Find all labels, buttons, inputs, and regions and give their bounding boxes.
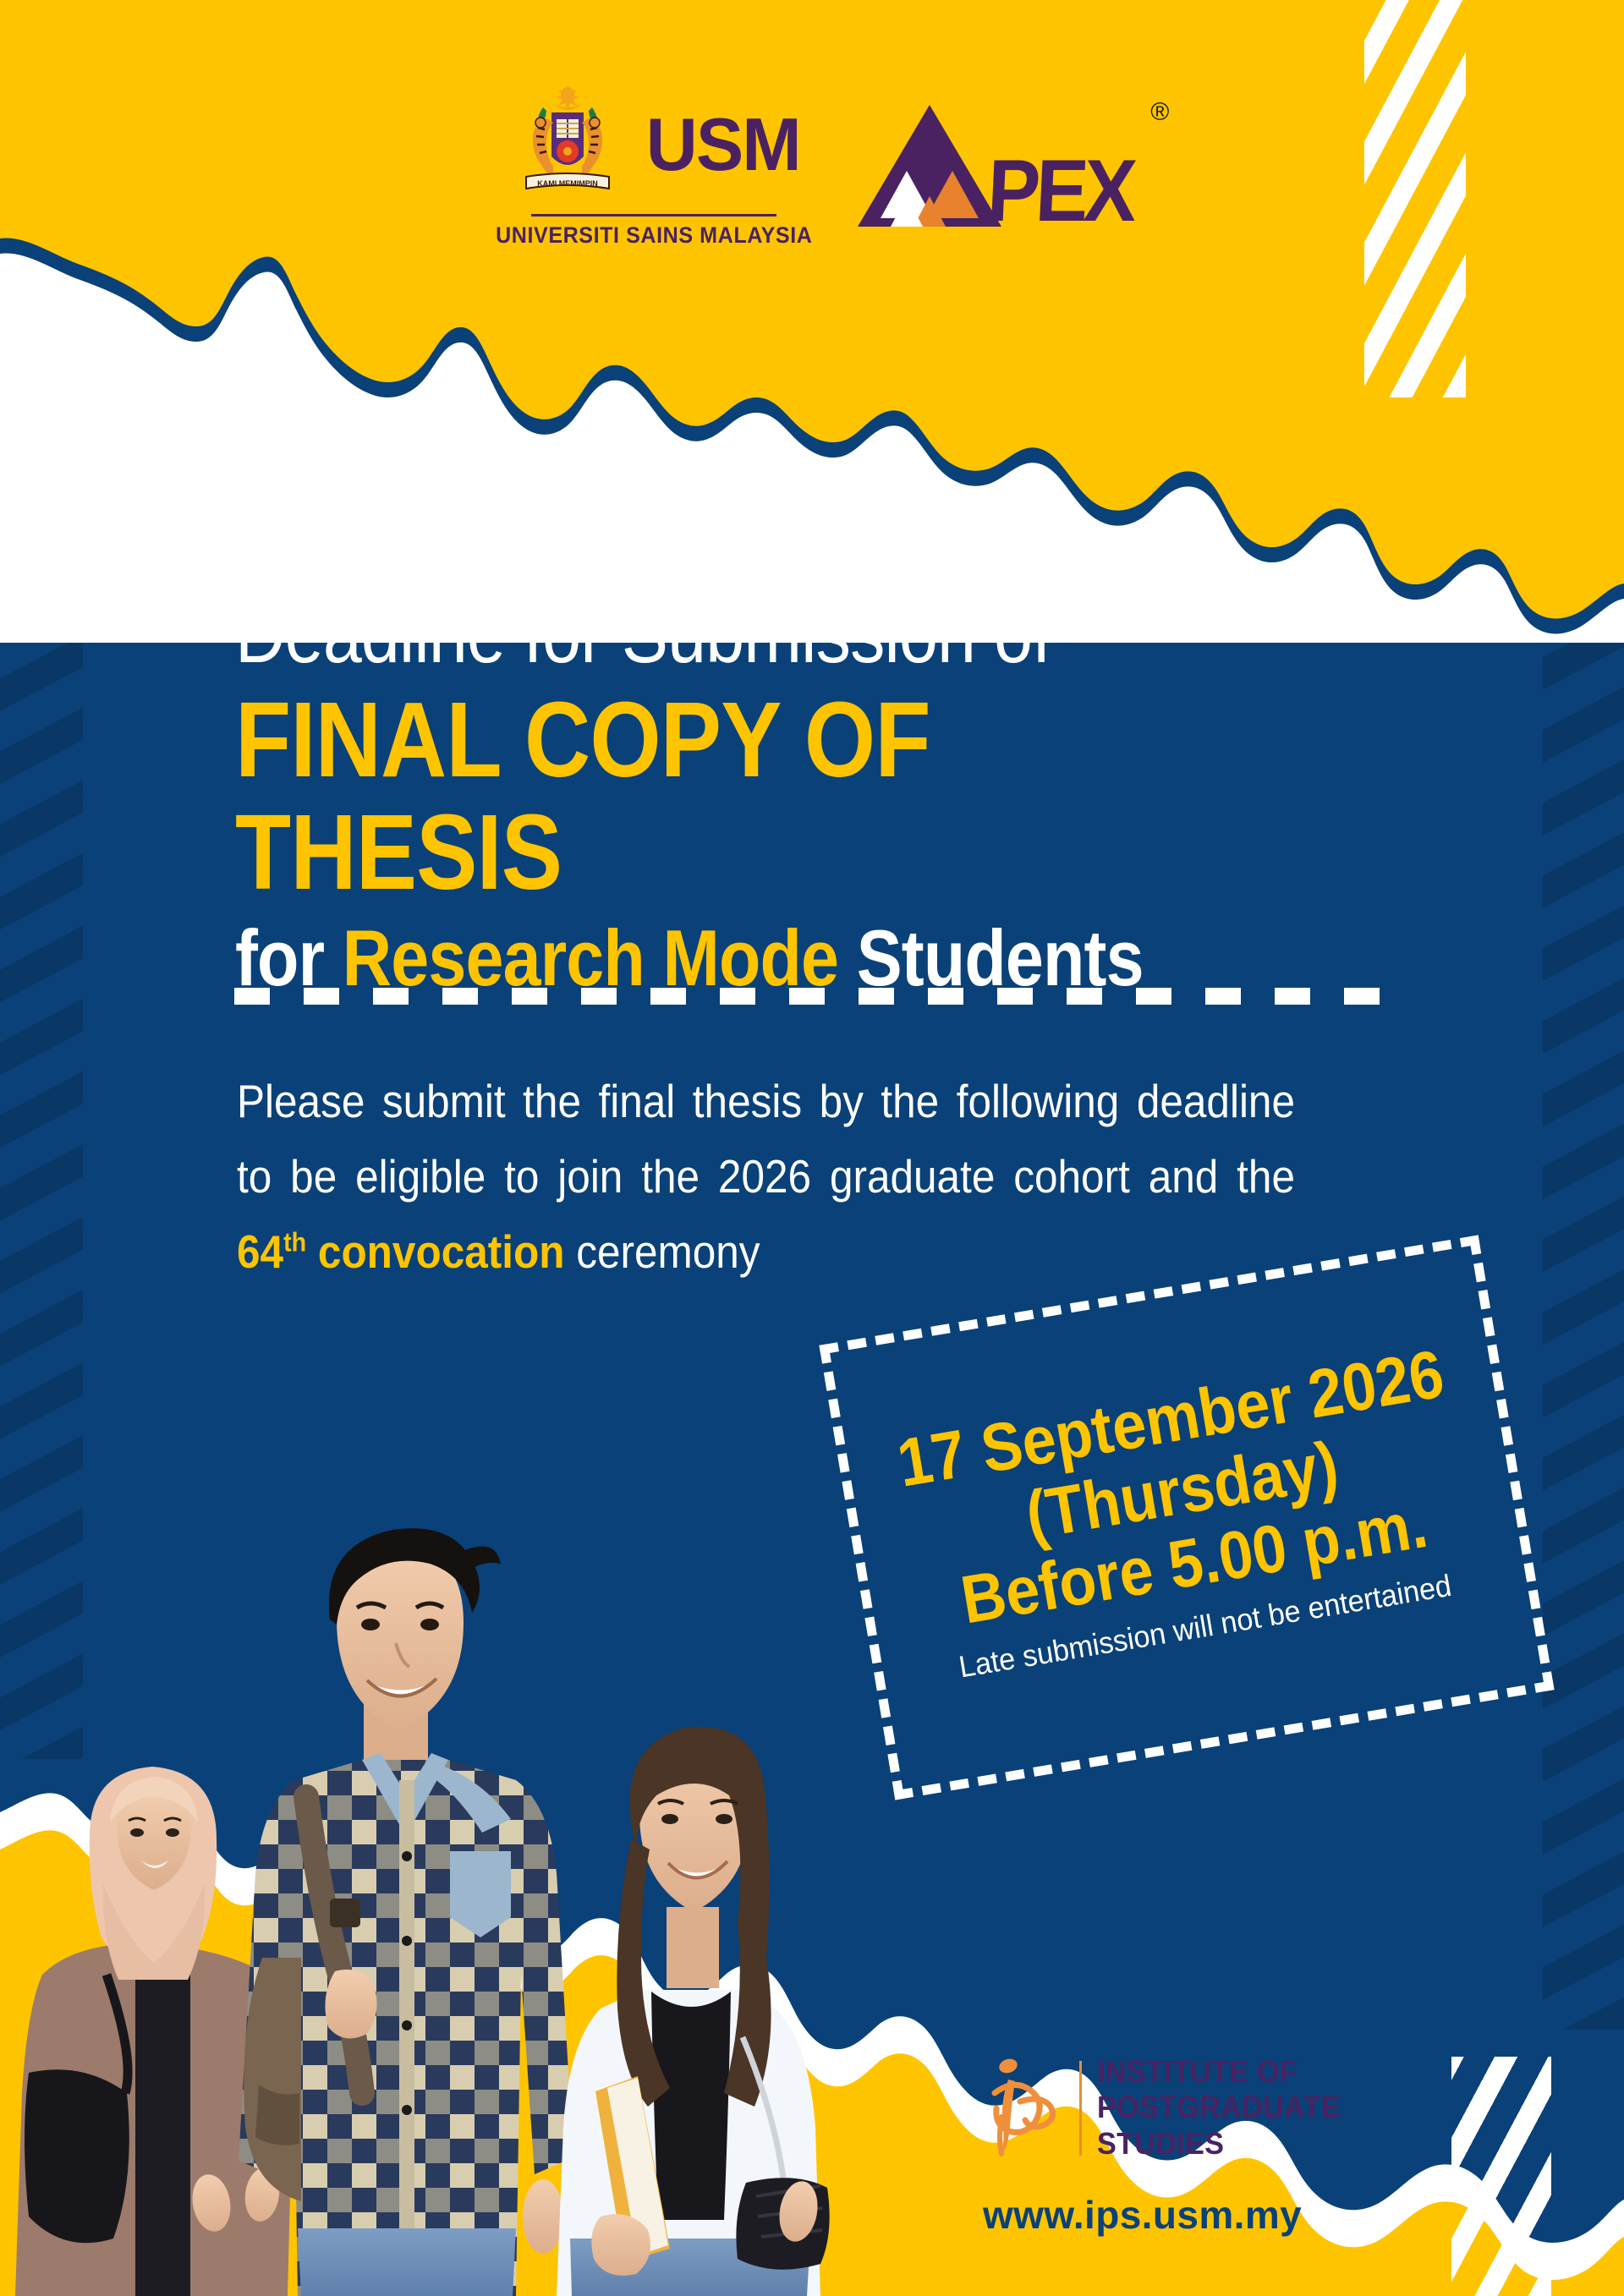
headline-block: Deadline for Submission of FINAL COPY OF… [235,592,1419,1000]
body-paragraph: Please submit the final thesis by the fo… [237,1064,1295,1290]
apex-wordmark: PEX [986,154,1134,228]
student-center [239,1528,573,2296]
ips-name-block: INSTITUTE OF POSTGRADUATE STUDIES [1097,2054,1341,2162]
body-text-part-1: Please submit the final thesis by the fo… [237,1075,1295,1203]
dashed-divider [234,988,1408,1005]
usm-logo: KAMI MEMIMPIN USM UNIVERSITI SAINS MALAY… [484,82,825,249]
usm-divider-rule [531,214,776,216]
headline-line-2: FINAL COPY OF THESIS [235,683,1254,909]
ips-name-line-1: INSTITUTE OF [1097,2054,1341,2090]
convocation-ordinal: th [283,1227,306,1258]
ips-script-icon [983,2054,1064,2162]
apex-triangle-icon [854,101,1005,228]
ips-name-line-3: STUDIES [1097,2126,1341,2162]
poster-canvas: KAMI MEMIMPIN USM UNIVERSITI SAINS MALAY… [0,0,1624,2296]
apex-logo: PEX ® [854,101,1140,228]
usm-wordmark: USM [646,111,800,179]
usm-caption: UNIVERSITI SAINS MALAYSIA [496,222,812,249]
student-right [557,1727,830,2296]
convocation-number: 64 [237,1225,283,1278]
bottom-right-diagonal-stripes [1451,2057,1551,2296]
usm-crest-motto: KAMI MEMIMPIN [537,179,598,188]
ips-name-line-2: POSTGRADUATE [1097,2090,1341,2125]
deadline-date-stamp: 17 September 2026 (Thursday) Before 5.00… [819,1236,1554,1800]
ips-logo-lockup: INSTITUTE OF POSTGRADUATE STUDIES [983,2047,1372,2169]
convocation-word: convocation [306,1225,564,1278]
logo-row: KAMI MEMIMPIN USM UNIVERSITI SAINS MALAY… [0,85,1624,245]
usm-crest-icon: KAMI MEMIMPIN [504,82,631,209]
ips-divider-bar [1079,2061,1082,2156]
registered-trademark-icon: ® [1150,98,1169,127]
website-url[interactable]: www.ips.usm.my [983,2192,1302,2238]
headline-line-1: Deadline for Submission of [235,592,1254,678]
right-edge-texture-stripes [1543,575,1624,2030]
students-photo [8,1501,871,2296]
body-text-part-2: ceremony [564,1225,760,1278]
